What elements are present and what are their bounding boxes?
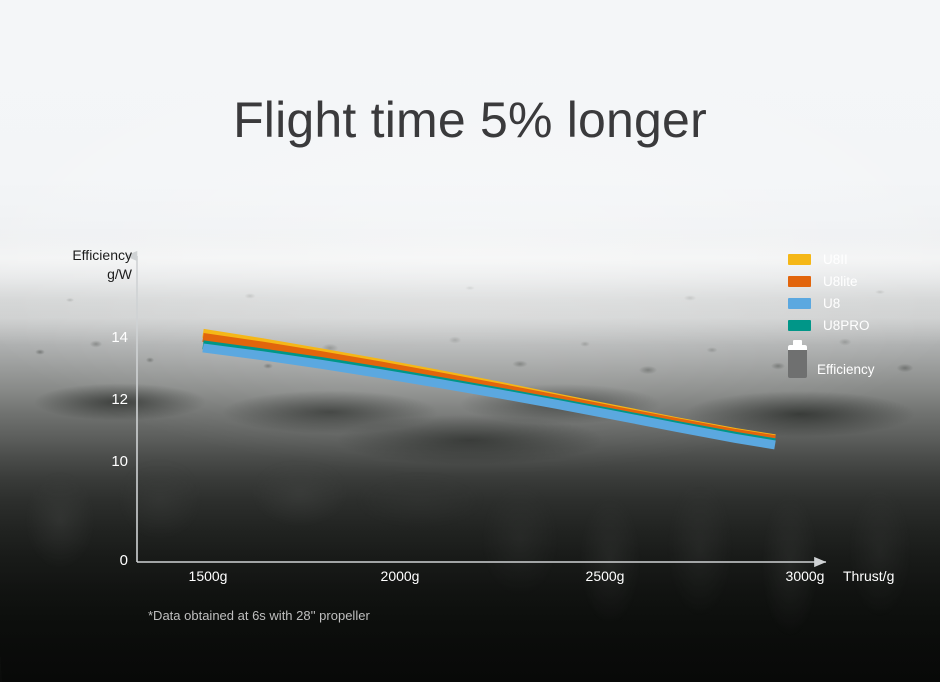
y-tick-0: 0 bbox=[96, 552, 128, 569]
legend-item-u8pro[interactable]: U8PRO bbox=[788, 314, 870, 336]
legend-item-u8lite[interactable]: U8lite bbox=[788, 270, 870, 292]
legend-item-u8ii[interactable]: U8II bbox=[788, 248, 870, 270]
y-axis-title-line1: Efficiency bbox=[22, 246, 132, 265]
legend-efficiency: Efficiency bbox=[788, 340, 875, 378]
x-tick-1500g: 1500g bbox=[163, 568, 253, 584]
y-axis-title-line2: g/W bbox=[22, 265, 132, 284]
battery-icon bbox=[788, 340, 807, 378]
y-tick-10: 10 bbox=[96, 453, 128, 470]
x-axis-title: Thrust/g bbox=[843, 568, 894, 584]
legend-swatch-u8lite bbox=[788, 276, 811, 287]
x-tick-2000g: 2000g bbox=[355, 568, 445, 584]
legend-label-u8: U8 bbox=[823, 296, 840, 311]
y-axis-title: Efficiency g/W bbox=[22, 246, 132, 284]
legend-item-u8[interactable]: U8 bbox=[788, 292, 870, 314]
legend-swatch-u8ii bbox=[788, 254, 811, 265]
series-u8 bbox=[203, 348, 775, 445]
legend-swatch-u8pro bbox=[788, 320, 811, 331]
legend-label-u8pro: U8PRO bbox=[823, 318, 870, 333]
chart-footnote: *Data obtained at 6s with 28'' propeller bbox=[148, 608, 370, 623]
x-tick-3000g: 3000g bbox=[760, 568, 850, 584]
legend-efficiency-label: Efficiency bbox=[817, 362, 875, 378]
x-tick-2500g: 2500g bbox=[560, 568, 650, 584]
y-tick-14: 14 bbox=[96, 329, 128, 346]
battery-fill bbox=[788, 345, 807, 350]
legend-swatch-u8 bbox=[788, 298, 811, 309]
y-tick-12: 12 bbox=[96, 391, 128, 408]
slide-canvas: Flight time 5% longer bbox=[0, 0, 940, 682]
legend-label-u8ii: U8II bbox=[823, 252, 848, 267]
chart-legend: U8II U8lite U8 U8PRO bbox=[788, 248, 870, 336]
legend-label-u8lite: U8lite bbox=[823, 274, 858, 289]
battery-body bbox=[788, 345, 807, 378]
